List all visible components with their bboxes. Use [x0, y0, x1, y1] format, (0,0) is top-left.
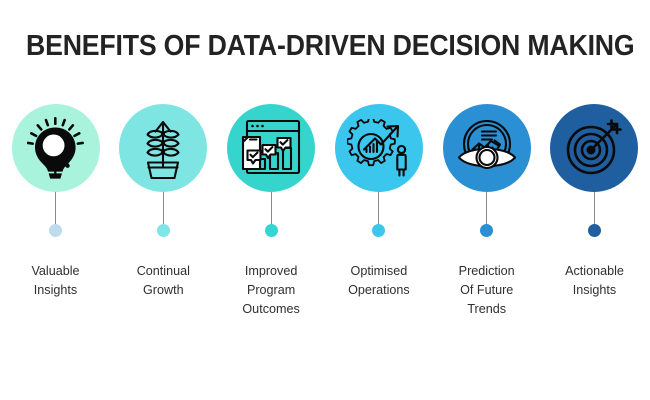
icon-circle-6: [550, 104, 638, 192]
benefit-label-1: Valuable Insights: [0, 262, 112, 300]
connector-dot-4: [372, 224, 385, 237]
icon-circle-4: [335, 104, 423, 192]
benefit-label-3: Improved Program Outcomes: [215, 262, 327, 319]
icon-circle-1: [12, 104, 100, 192]
benefit-item-optimised-operations[interactable]: Optimised Operations: [331, 104, 426, 319]
lightbulb-magnifier-icon: [27, 117, 85, 179]
benefit-item-improved-program-outcomes[interactable]: Improved Program Outcomes: [224, 104, 319, 319]
benefits-row: Valuable Insights: [0, 104, 650, 319]
growing-plant-arrow-icon: [135, 116, 191, 180]
gear-arrow-person-icon: [347, 119, 411, 177]
benefit-item-valuable-insights[interactable]: Valuable Insights: [8, 104, 103, 319]
infographic-canvas: BENEFITS OF DATA-DRIVEN DECISION MAKING: [0, 0, 650, 400]
connector-line-4: [378, 192, 379, 225]
connector-dot-5: [480, 224, 493, 237]
icon-circle-3: [227, 104, 315, 192]
connector-dot-1: [49, 224, 62, 237]
connector-line-3: [271, 192, 272, 225]
eye-forecast-chart-icon: [456, 119, 518, 177]
connector-dot-3: [265, 224, 278, 237]
connector-line-2: [163, 192, 164, 225]
icon-circle-2: [119, 104, 207, 192]
connector-dot-6: [588, 224, 601, 237]
benefit-item-continual-growth[interactable]: Continual Growth: [116, 104, 211, 319]
connector-line-6: [594, 192, 595, 225]
benefit-item-actionable-insights[interactable]: Actionable Insights: [547, 104, 642, 319]
benefit-label-6: Actionable Insights: [538, 262, 650, 300]
icon-circle-5: [443, 104, 531, 192]
benefit-label-5: Prediction Of Future Trends: [431, 262, 543, 319]
page-title: BENEFITS OF DATA-DRIVEN DECISION MAKING: [26, 30, 624, 63]
connector-line-5: [486, 192, 487, 225]
dashboard-checklist-chart-icon: [240, 118, 302, 178]
benefit-item-prediction-future-trends[interactable]: Prediction Of Future Trends: [439, 104, 534, 319]
connector-dot-2: [157, 224, 170, 237]
benefit-label-4: Optimised Operations: [323, 262, 435, 300]
benefit-label-2: Continual Growth: [107, 262, 219, 300]
target-arrow-icon: [564, 119, 624, 177]
connector-line-1: [55, 192, 56, 225]
